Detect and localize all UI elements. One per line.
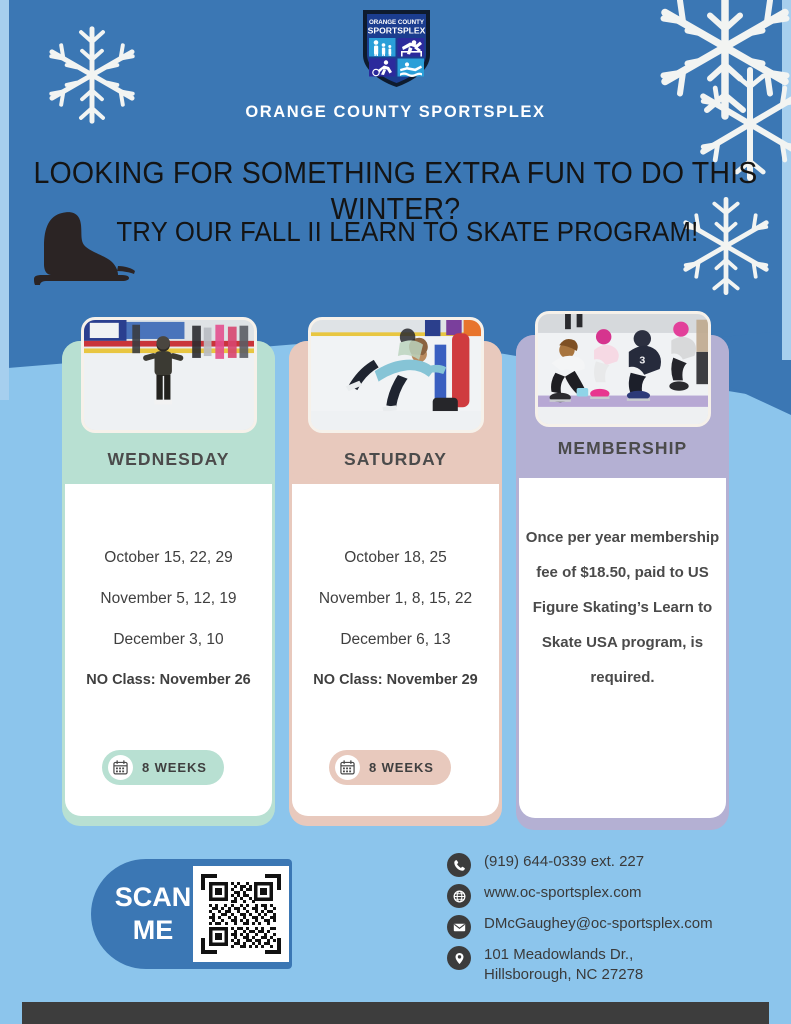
date-line: November 1, 8, 15, 22 xyxy=(289,578,502,619)
card-photo-membership: 3 xyxy=(535,311,711,427)
date-line: December 6, 13 xyxy=(289,619,502,660)
scan-me-line1: SCAN xyxy=(115,882,192,912)
scan-me-label: SCANME xyxy=(112,881,194,947)
date-line: October 18, 25 xyxy=(289,537,502,578)
card-photo-saturday xyxy=(308,317,484,433)
street-address: 101 Meadowlands Dr., Hillsborough, NC 27… xyxy=(484,945,643,985)
contact-row-phone[interactable]: (919) 644-0339 ext. 227 xyxy=(447,852,713,877)
no-class-note: NO Class: November 29 xyxy=(289,660,502,701)
no-class-note: NO Class: November 26 xyxy=(62,660,275,701)
calendar-icon xyxy=(108,755,133,780)
scan-me-line2: ME xyxy=(133,915,174,945)
card-title: WEDNESDAY xyxy=(62,449,275,470)
website-url: www.oc-sportsplex.com xyxy=(484,883,642,903)
scan-me-block[interactable]: SCANME xyxy=(91,859,292,969)
qr-code[interactable] xyxy=(193,866,289,962)
phone-number: (919) 644-0339 ext. 227 xyxy=(484,852,644,872)
svg-text:3: 3 xyxy=(639,354,645,366)
globe-icon xyxy=(447,884,471,908)
calendar-icon xyxy=(335,755,360,780)
card-photo-wednesday xyxy=(81,317,257,433)
duration-badge: 8 WEEKS xyxy=(329,750,451,785)
contact-row-website[interactable]: www.oc-sportsplex.com xyxy=(447,883,713,908)
date-line: December 3, 10 xyxy=(62,619,275,660)
membership-description: Once per year membership fee of $18.50, … xyxy=(522,520,723,695)
duration-badge: 8 WEEKS xyxy=(102,750,224,785)
date-line: November 5, 12, 19 xyxy=(62,578,275,619)
card-dates-list: October 15, 22, 29 November 5, 12, 19 De… xyxy=(62,537,275,701)
location-pin-icon xyxy=(447,946,471,970)
email-address: DMcGaughey@oc-sportsplex.com xyxy=(484,914,713,934)
footer-bar xyxy=(22,1002,769,1024)
envelope-icon xyxy=(447,915,471,939)
card-title: MEMBERSHIP xyxy=(516,438,729,459)
duration-badge-label: 8 WEEKS xyxy=(142,760,207,775)
card-dates-list: October 18, 25 November 1, 8, 15, 22 Dec… xyxy=(289,537,502,701)
phone-icon xyxy=(447,853,471,877)
contact-row-address[interactable]: 101 Meadowlands Dr., Hillsborough, NC 27… xyxy=(447,945,713,985)
card-title: SATURDAY xyxy=(289,449,502,470)
contact-info: (919) 644-0339 ext. 227 www.oc-sportsple… xyxy=(447,852,713,985)
duration-badge-label: 8 WEEKS xyxy=(369,760,434,775)
date-line: October 15, 22, 29 xyxy=(62,537,275,578)
contact-row-email[interactable]: DMcGaughey@oc-sportsplex.com xyxy=(447,914,713,939)
